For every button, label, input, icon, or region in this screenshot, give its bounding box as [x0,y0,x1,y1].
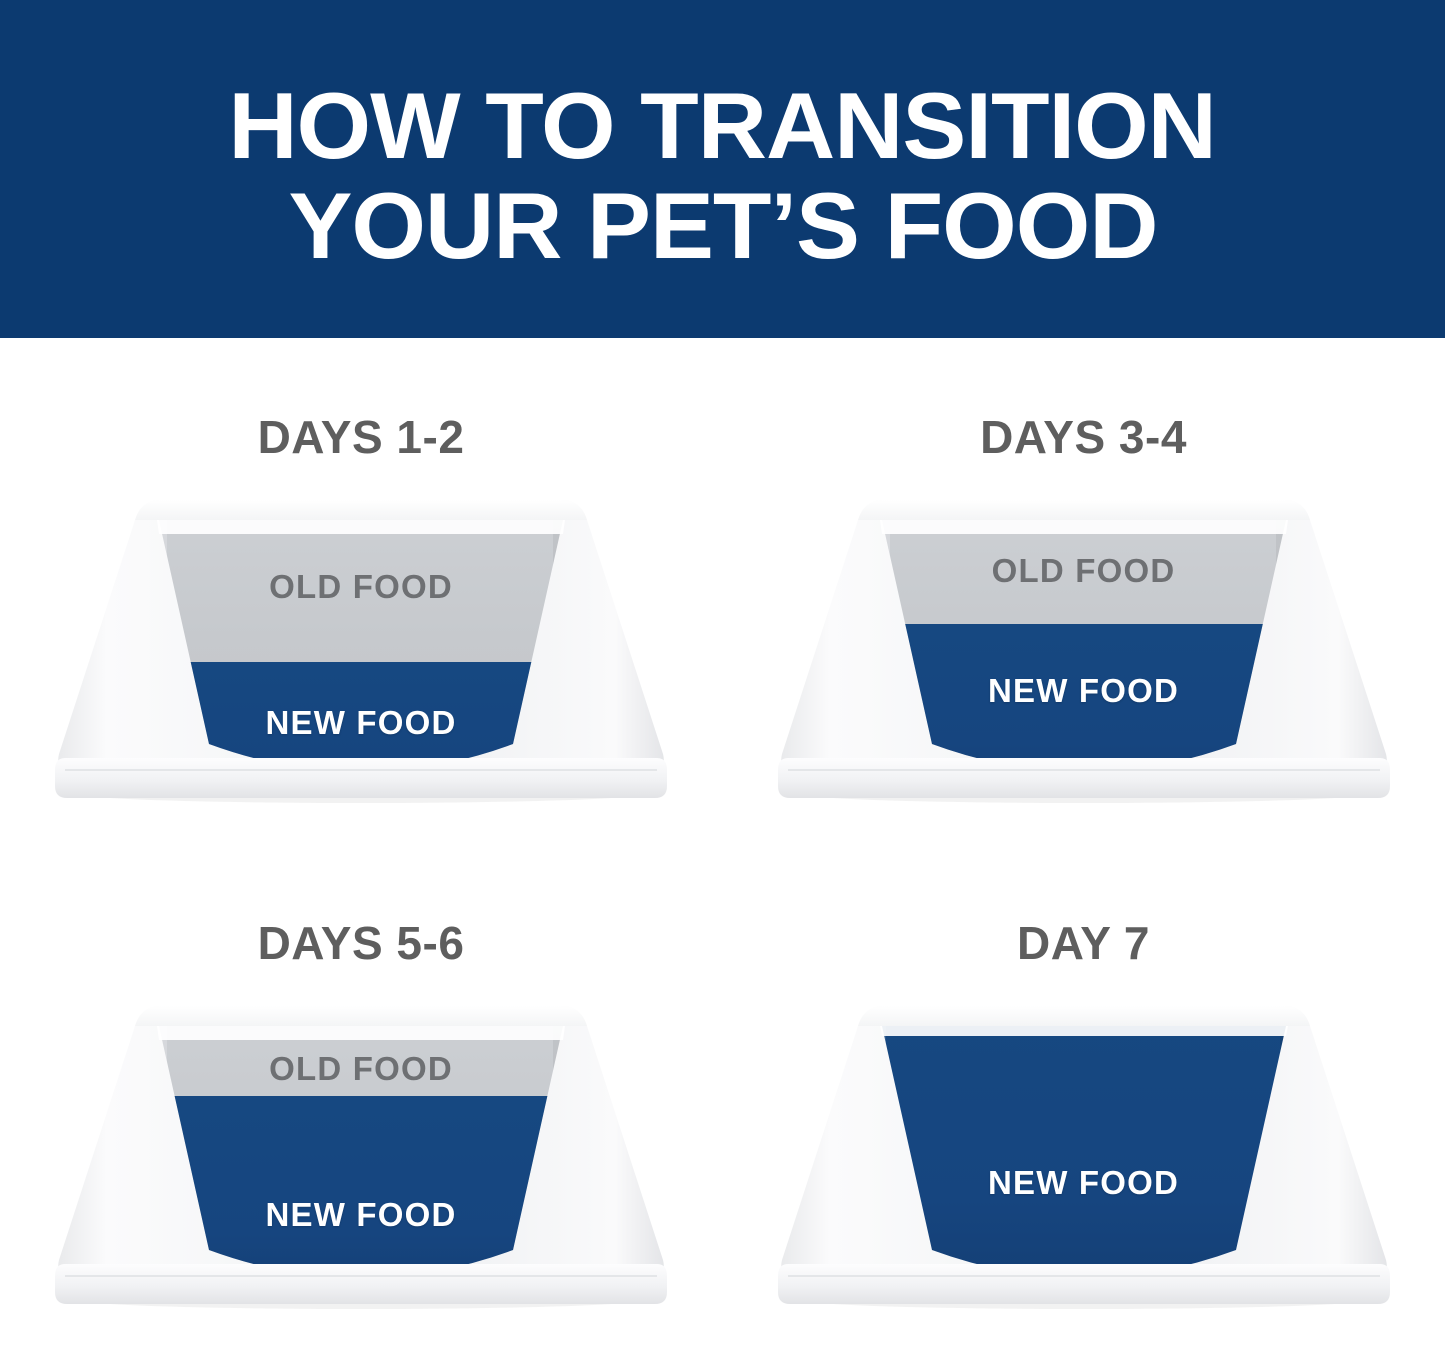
stage-panel-days-1-2: DAYS 1-2 [0,338,722,844]
bowl-base [55,758,667,798]
bowl-illustration [41,482,681,812]
bowl-day-7: NEW FOOD [764,988,1404,1318]
page-title-line-2: YOUR PET’S FOOD [288,180,1157,272]
bowl-base [55,1264,667,1304]
bowl-days-1-2: OLD FOOD NEW FOOD [41,482,681,812]
header-banner: HOW TO TRANSITION YOUR PET’S FOOD [0,0,1445,338]
page-title-line-1: HOW TO TRANSITION [229,80,1217,172]
bowl-rim [858,1006,1310,1026]
stage-title: DAYS 3-4 [980,414,1187,460]
bowl-days-3-4: OLD FOOD NEW FOOD [764,482,1404,812]
bowl-illustration [764,482,1404,812]
bowl-base [778,758,1390,798]
stage-panel-days-3-4: DAYS 3-4 [722,338,1445,844]
stage-panel-day-7: DAY 7 [722,844,1445,1350]
bowl-days-5-6: OLD FOOD NEW FOOD [41,988,681,1318]
bowl-base [778,1264,1390,1304]
bowl-illustration [764,988,1404,1318]
stage-panel-days-5-6: DAYS 5-6 [0,844,722,1350]
bowl-grid: DAYS 1-2 [0,338,1445,1350]
bowl-illustration [41,988,681,1318]
stage-title: DAY 7 [1017,920,1150,966]
bowl-rim [135,500,587,520]
stage-title: DAYS 5-6 [258,920,465,966]
bowl-rim [135,1006,587,1026]
bowl-rim [858,500,1310,520]
stage-title: DAYS 1-2 [258,414,465,460]
